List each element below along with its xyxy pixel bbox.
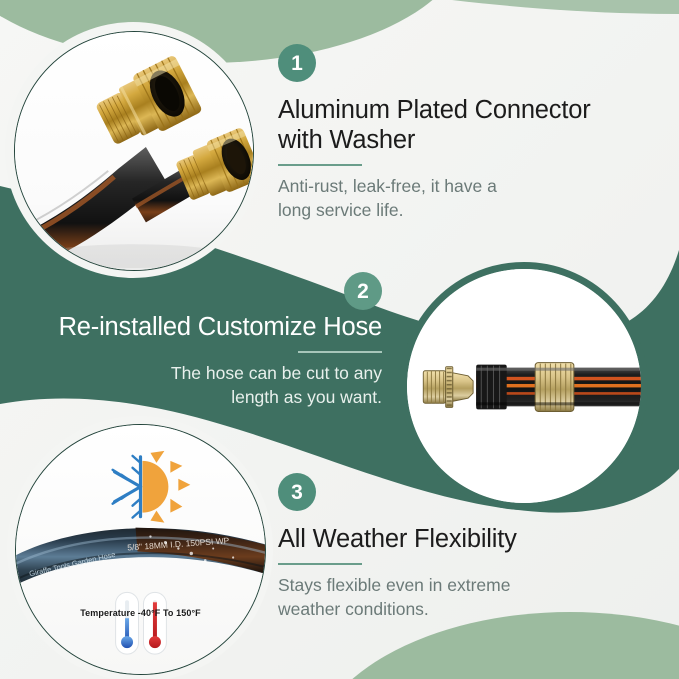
feature-rule-2 [298,351,382,353]
feature-title-1: Aluminum Plated Connector with Washer [278,95,650,155]
feature-description-1: Anti-rust, leak-free, it have a long ser… [278,175,650,222]
infographic-canvas: Giraffe Tools Garden Hose 5/8" 18MM I.D.… [0,0,679,679]
feature-block-3: 3 All Weather Flexibility Stays flexible… [278,473,650,621]
feature-block-1: 1 Aluminum Plated Connector with Washer … [278,44,650,222]
feature-badge-wrap-2: 2 [250,272,382,310]
hose-fitting-assembly-illustration [407,269,641,503]
temperature-label: Temperature -40°F To 150°F [16,608,265,618]
photo-all-weather: Giraffe Tools Garden Hose 5/8" 18MM I.D.… [15,424,266,675]
feature-description-3: Stays flexible even in extreme weather c… [278,574,650,621]
feature-title-2: Re-installed Customize Hose [20,312,382,342]
feature-title-3: All Weather Flexibility [278,524,650,554]
thermometer-cold [116,592,139,654]
feature-description-2: The hose can be cut to any length as you… [20,362,382,409]
feature-block-2: Re-installed Customize Hose The hose can… [20,312,382,409]
step-badge-1: 1 [278,44,316,82]
thermometer-hot [143,592,166,654]
brass-hose-connectors-photo [15,32,253,270]
step-badge-3: 3 [278,473,316,511]
all-weather-hose-photo: Giraffe Tools Garden Hose 5/8" 18MM I.D.… [16,425,265,674]
feature-rule-1 [278,164,362,166]
photo-connectors [14,31,254,271]
feature-rule-3 [278,563,362,565]
step-badge-2: 2 [344,272,382,310]
